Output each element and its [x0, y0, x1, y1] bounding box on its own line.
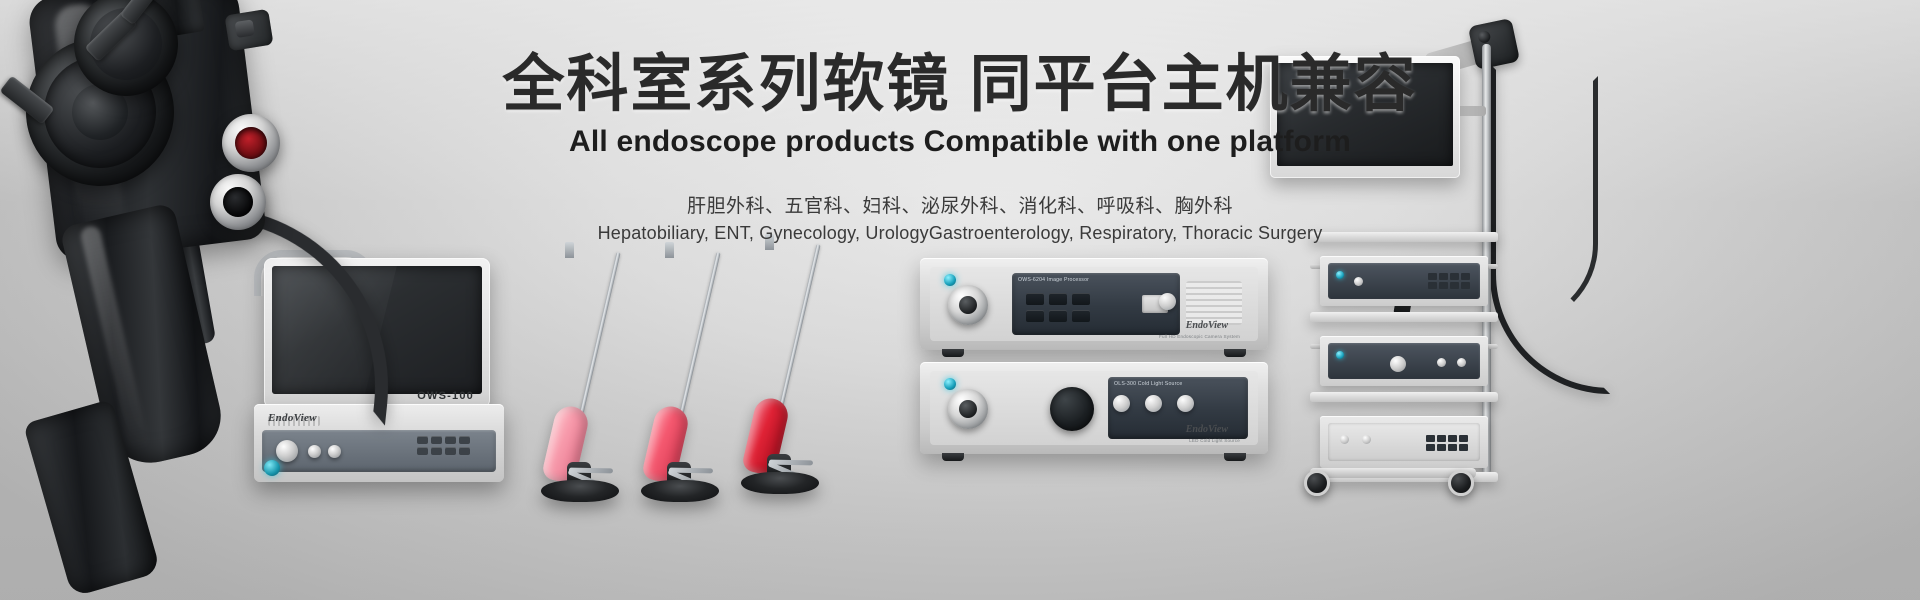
device-keypad [1428, 273, 1470, 289]
trolley-device-2 [1320, 336, 1488, 386]
instrument-tip [665, 242, 674, 258]
power-indicator [1336, 271, 1344, 279]
device-button-a [1437, 358, 1446, 367]
panel-keypad [417, 436, 470, 455]
device-front-face [1328, 263, 1480, 299]
power-indicator [1336, 351, 1344, 359]
indicator-led [235, 19, 255, 38]
departments-english: Hepatobiliary, ENT, Gynecology, UrologyG… [0, 223, 1920, 244]
unit-sub-caption: Full HD Endoscopic Camera System [1159, 334, 1240, 339]
power-indicator [944, 274, 956, 286]
unit-round-button [1159, 293, 1176, 310]
headline-english: All endoscope products Compatible with o… [0, 125, 1920, 159]
unit-front-face: OLS-300 Cold Light Source EndoView LED C… [930, 371, 1258, 445]
device-button-a [1340, 435, 1349, 444]
unit-foot-right [1224, 453, 1246, 461]
unit-panel-caption: OWS-6204 Image Processor [1018, 277, 1089, 285]
cold-light-source-unit: OLS-300 Cold Light Source EndoView LED C… [920, 362, 1268, 454]
unit-sub-caption: LED Cold Light Source [1189, 438, 1240, 443]
unit-foot-left [942, 453, 964, 461]
unit-brand-label: EndoView [1186, 424, 1228, 435]
unit-main-dial [948, 285, 988, 325]
product-banner: 全科室系列软镜 同平台主机兼容 All endoscope products C… [0, 0, 1920, 600]
scope-knob [1477, 30, 1491, 44]
unit-vent [1186, 281, 1242, 325]
unit-front-face: OWS-6204 Image Processor EndoView Full H… [930, 267, 1258, 341]
instrument-tip [565, 242, 574, 258]
trolley-wheel-left [1304, 470, 1330, 496]
device-button-b [1457, 358, 1466, 367]
unit-foot-right [1224, 349, 1246, 357]
workstation-model-label: OWS-100 [417, 390, 474, 402]
trolley-wheel-right [1448, 470, 1474, 496]
trolley-device-1 [1320, 256, 1488, 306]
device-front-face [1328, 343, 1480, 379]
headline-chinese: 全科室系列软镜 同平台主机兼容 [0, 52, 1920, 119]
display-stand [741, 472, 819, 494]
unit-foot-left [942, 349, 964, 357]
standby-button [1113, 395, 1130, 412]
trolley-shelf-2 [1310, 312, 1498, 322]
device-main-dial [1390, 356, 1406, 372]
processor-stack: OWS-6204 Image Processor EndoView Full H… [920, 258, 1270, 468]
instrument-shaft [777, 244, 820, 416]
trolley-device-3 [1320, 416, 1488, 468]
unit-brand-label: EndoView [1186, 320, 1228, 331]
image-processor-unit: OWS-6204 Image Processor EndoView Full H… [920, 258, 1268, 350]
fan-button [1177, 395, 1194, 412]
brightness-knob [1050, 387, 1094, 431]
unit-panel-caption: OLS-300 Cold Light Source [1114, 381, 1182, 389]
laparoscopic-instrument-3 [705, 240, 855, 490]
device-knob [1354, 277, 1363, 286]
unit-control-panel: OWS-6204 Image Processor [1012, 273, 1180, 335]
unit-button-row [1026, 293, 1090, 322]
device-keypad [1426, 435, 1468, 451]
unit-main-dial [948, 389, 988, 429]
trolley-shelf-3 [1310, 392, 1498, 402]
mode-button [1145, 395, 1162, 412]
departments-chinese: 肝胆外科、五官科、妇科、泌尿外科、消化科、呼吸科、胸外科 [0, 191, 1920, 218]
device-front-face [1328, 423, 1480, 461]
device-button-b [1362, 435, 1371, 444]
handle-top-cap [224, 9, 273, 51]
banner-text-block: 全科室系列软镜 同平台主机兼容 All endoscope products C… [0, 52, 1920, 244]
power-indicator [944, 378, 956, 390]
